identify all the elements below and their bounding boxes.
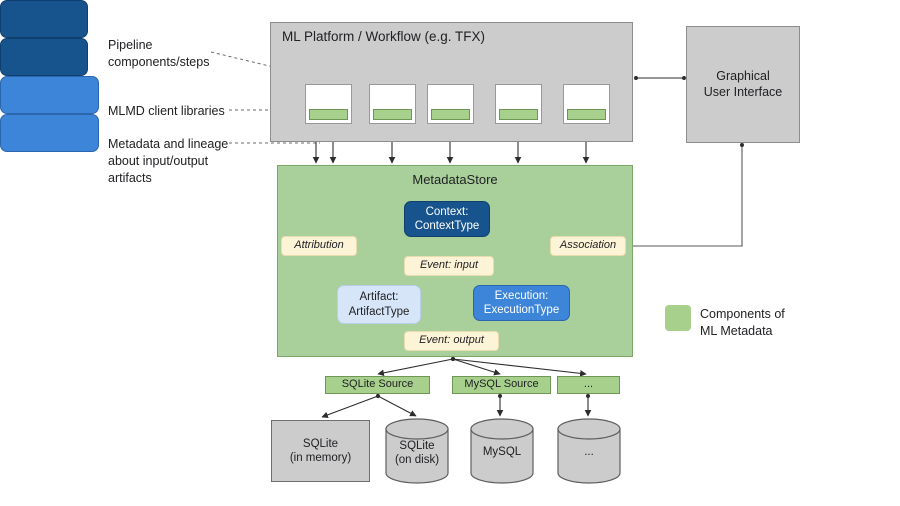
execution-card-stack-mid — [0, 114, 99, 152]
event-output-chip-label: Event: output — [419, 334, 484, 347]
association-gui-link — [627, 145, 742, 246]
attribution-chip[interactable]: Attribution — [281, 236, 357, 256]
execution-card-label: Execution: ExecutionType — [484, 289, 559, 317]
other-source-box[interactable]: ... — [557, 376, 620, 394]
context-card-label: Context: ContextType — [415, 205, 480, 233]
context-card[interactable]: Context: ContextType — [404, 201, 490, 237]
legend-label: Components of ML Metadata — [700, 306, 785, 340]
execution-card[interactable]: Execution: ExecutionType — [473, 285, 570, 321]
sqlite-in-memory-label: SQLite (in memory) — [290, 437, 351, 465]
artifact-card[interactable]: Artifact: ArtifactType — [337, 285, 421, 324]
mysql-source-label: MySQL Source — [464, 378, 538, 391]
sqlite-on-disk-label: SQLite (on disk) — [385, 440, 449, 468]
association-chip[interactable]: Association — [550, 236, 626, 256]
sqlite-on-disk-cylinder[interactable]: SQLite (on disk) — [385, 418, 449, 484]
mlmd-client-library-bar-5 — [567, 109, 606, 120]
sqlite-source-label: SQLite Source — [342, 378, 414, 391]
sqlite-source-box[interactable]: SQLite Source — [325, 376, 430, 394]
mlmd-client-library-bar-1 — [309, 109, 348, 120]
metadata-store-title: MetadataStore — [277, 172, 633, 187]
pipeline-component-2[interactable] — [369, 84, 416, 124]
association-chip-label: Association — [560, 239, 616, 252]
mlmd-client-library-bar-2 — [373, 109, 412, 120]
graphical-user-interface-box[interactable]: Graphical User Interface — [686, 26, 800, 143]
annotation-metadata-lineage: Metadata and lineage about input/output … — [108, 136, 228, 187]
sqlite-in-memory-box[interactable]: SQLite (in memory) — [271, 420, 370, 482]
mysql-cylinder[interactable]: MySQL — [470, 418, 534, 484]
execution-card-stack-back — [0, 76, 99, 114]
annotation-mlmd-client-libraries: MLMD client libraries — [108, 103, 225, 120]
attribution-chip-label: Attribution — [294, 239, 344, 252]
pipeline-component-1[interactable] — [305, 84, 352, 124]
ml-platform-title: ML Platform / Workflow (e.g. TFX) — [282, 29, 485, 44]
legend-color-swatch — [665, 305, 691, 331]
mlmd-client-library-bar-3 — [431, 109, 470, 120]
context-card-stack-back — [0, 0, 88, 38]
pipeline-component-4[interactable] — [495, 84, 542, 124]
event-input-chip-label: Event: input — [420, 259, 478, 272]
context-card-stack-mid — [0, 38, 88, 76]
sources-to-stores-arrows — [322, 396, 588, 417]
mlmd-client-library-bar-4 — [499, 109, 538, 120]
pipeline-component-5[interactable] — [563, 84, 610, 124]
pipeline-component-3[interactable] — [427, 84, 474, 124]
store-to-sources-arrows — [378, 359, 586, 374]
other-source-label: ... — [584, 378, 593, 391]
annotation-pipeline-components: Pipeline components/steps — [108, 37, 209, 71]
mysql-label: MySQL — [470, 446, 534, 460]
event-input-chip[interactable]: Event: input — [404, 256, 494, 276]
other-db-label: ... — [557, 446, 621, 460]
mysql-source-box[interactable]: MySQL Source — [452, 376, 551, 394]
graphical-user-interface-label: Graphical User Interface — [704, 69, 783, 100]
artifact-card-label: Artifact: ArtifactType — [349, 290, 410, 318]
event-output-chip[interactable]: Event: output — [404, 331, 499, 351]
other-db-cylinder[interactable]: ... — [557, 418, 621, 484]
diagram-canvas: Pipeline components/steps MLMD client li… — [0, 0, 900, 506]
